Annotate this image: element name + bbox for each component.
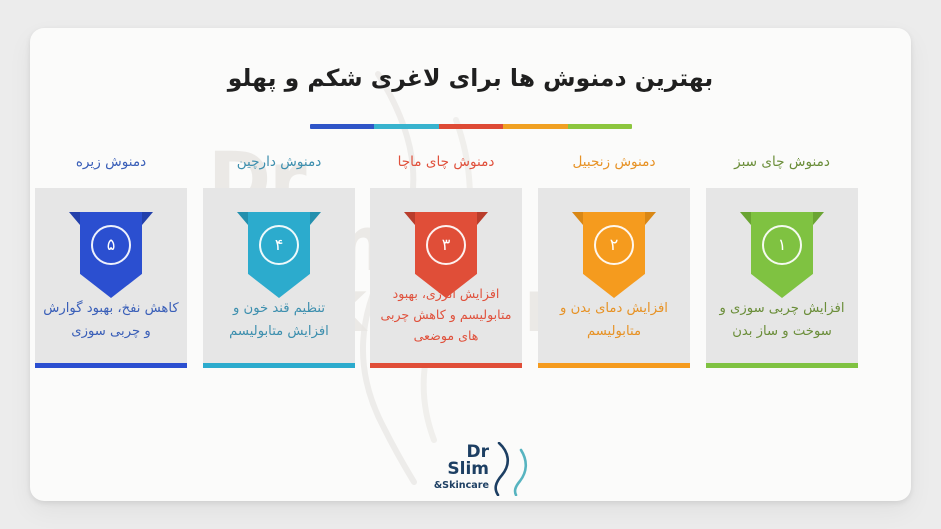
card-accent-bar (35, 363, 187, 368)
rank-ribbon: ۱ (751, 212, 813, 298)
brand-logo: Dr Slim &Skincare (405, 442, 535, 498)
brand-logo-text: Dr Slim &Skincare (405, 444, 489, 490)
ribbon-wing-right-icon (310, 212, 321, 225)
column-list: دمنوش چای سبز ۱ افزایش چربی سوزی و سوخت … (30, 28, 911, 501)
ribbon-wing-left-icon (572, 212, 583, 225)
brand-logo-line-3: &Skincare (405, 481, 489, 491)
card-accent-bar (203, 363, 355, 368)
card-accent-bar (706, 363, 858, 368)
rank-number: ۲ (610, 237, 619, 253)
rank-number: ۱ (778, 237, 787, 253)
ribbon-wing-left-icon (404, 212, 415, 225)
column-body-text: کاهش نفخ، بهبود گوارش و چربی سوزی (43, 298, 179, 343)
column-body-text: تنظیم قند خون و افزایش متابولیسم (211, 298, 347, 343)
column-heading: دمنوش زنجبیل (534, 154, 694, 170)
column-body-text: افزایش چربی سوزی و سوخت و ساز بدن (714, 298, 850, 343)
ribbon-wing-left-icon (237, 212, 248, 225)
rank-number: ۳ (442, 237, 451, 253)
column-heading: دمنوش چای ماچا (366, 154, 526, 170)
column-body-text: افزایش دمای بدن و متابولیسم (546, 298, 682, 343)
column-heading: دمنوش دارچین (199, 154, 359, 170)
card-accent-bar (370, 363, 522, 368)
ribbon-wing-right-icon (477, 212, 488, 225)
column-card: ۴ تنظیم قند خون و افزایش متابولیسم (203, 188, 355, 368)
rank-ribbon: ۴ (248, 212, 310, 298)
column-card: ۲ افزایش دمای بدن و متابولیسم (538, 188, 690, 368)
rank-number: ۵ (107, 237, 116, 253)
card-accent-bar (538, 363, 690, 368)
column-card: ۱ افزایش چربی سوزی و سوخت و ساز بدن (706, 188, 858, 368)
rank-number: ۴ (275, 237, 284, 253)
rank-ribbon: ۵ (80, 212, 142, 298)
ribbon-wing-right-icon (645, 212, 656, 225)
ribbon-wing-left-icon (69, 212, 80, 225)
rank-ribbon: ۲ (583, 212, 645, 298)
body-silhouette-icon (489, 442, 533, 496)
column-body-text: افزایش انرژی، بهبود متابولیسم و کاهش چرب… (378, 284, 514, 347)
infographic-sheet: Dr Slim &Skincare بهترین دمنوش ها برای ل… (30, 28, 911, 501)
brand-logo-line-2: Slim (405, 461, 489, 478)
rank-circle: ۳ (426, 225, 466, 265)
column-card: ۳ افزایش انرژی، بهبود متابولیسم و کاهش چ… (370, 188, 522, 368)
rank-circle: ۵ (91, 225, 131, 265)
ribbon-wing-right-icon (813, 212, 824, 225)
rank-circle: ۴ (259, 225, 299, 265)
column-heading: دمنوش زیره (31, 154, 191, 170)
column-card: ۵ کاهش نفخ، بهبود گوارش و چربی سوزی (35, 188, 187, 368)
ribbon-wing-left-icon (740, 212, 751, 225)
column-heading: دمنوش چای سبز (702, 154, 862, 170)
ribbon-wing-right-icon (142, 212, 153, 225)
rank-circle: ۱ (762, 225, 802, 265)
rank-circle: ۲ (594, 225, 634, 265)
